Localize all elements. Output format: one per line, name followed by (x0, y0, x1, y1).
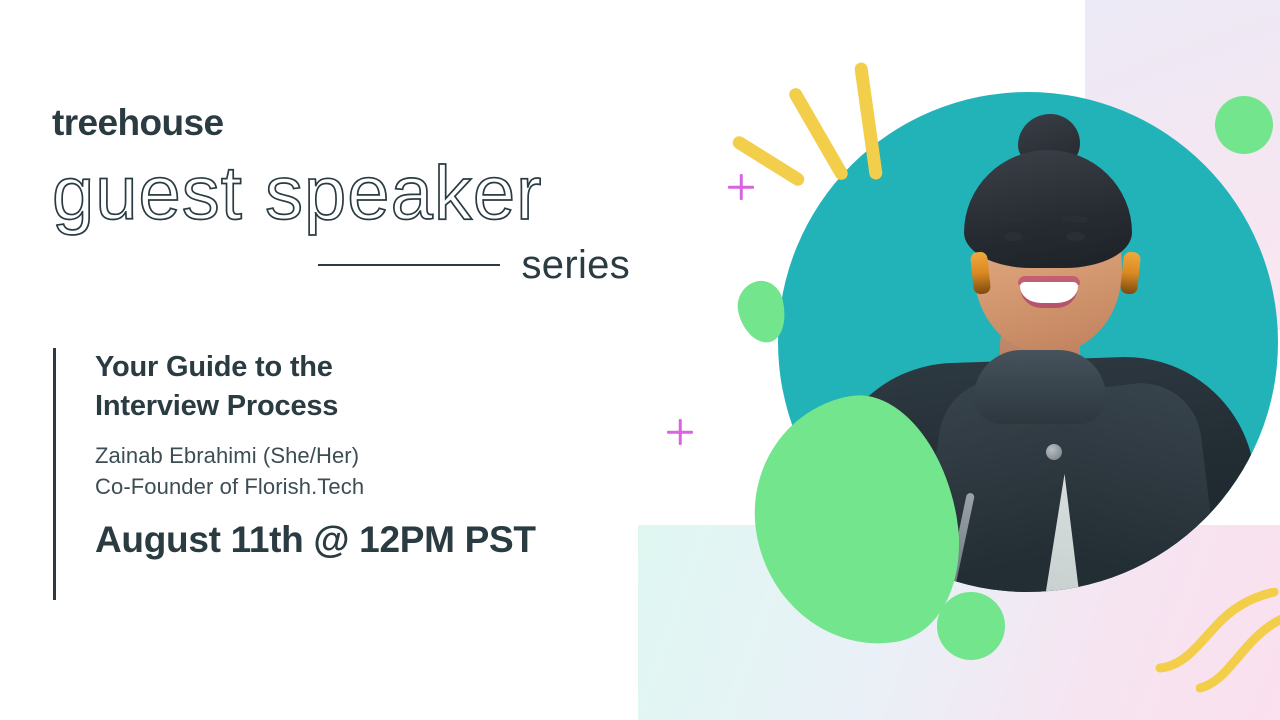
magenta-plus-icon-2 (667, 419, 693, 445)
guest-speaker-headline: guest speaker (52, 155, 652, 233)
speaker-role: Co-Founder of Florish.Tech (95, 471, 536, 502)
series-label: series (522, 245, 631, 285)
hair (964, 150, 1132, 268)
eye-left (1004, 232, 1023, 241)
event-info-block: Your Guide to the Interview Process Zain… (53, 348, 536, 600)
earring-right (1120, 251, 1141, 295)
slide-canvas: treehouse guest speaker series Your Guid… (0, 0, 1280, 720)
green-circle-top-right (1215, 96, 1273, 154)
green-circle-bottom (937, 592, 1005, 660)
event-datetime: August 11th @ 12PM PST (95, 520, 536, 561)
eye-right (1066, 232, 1085, 241)
jacket-stud (1046, 444, 1062, 460)
headline-block: treehouse guest speaker series (52, 104, 652, 285)
yellow-ray-icon-2 (787, 86, 850, 183)
series-row: series (52, 245, 630, 285)
treehouse-wordmark: treehouse (52, 104, 652, 141)
jacket-collar (974, 350, 1106, 424)
talk-title: Your Guide to the Interview Process (95, 348, 536, 425)
series-divider-rule (318, 264, 500, 266)
magenta-plus-icon-1 (728, 174, 754, 200)
speaker-name: Zainab Ebrahimi (She/Her) (95, 440, 536, 471)
yellow-squiggle-icon-2 (1196, 610, 1280, 710)
